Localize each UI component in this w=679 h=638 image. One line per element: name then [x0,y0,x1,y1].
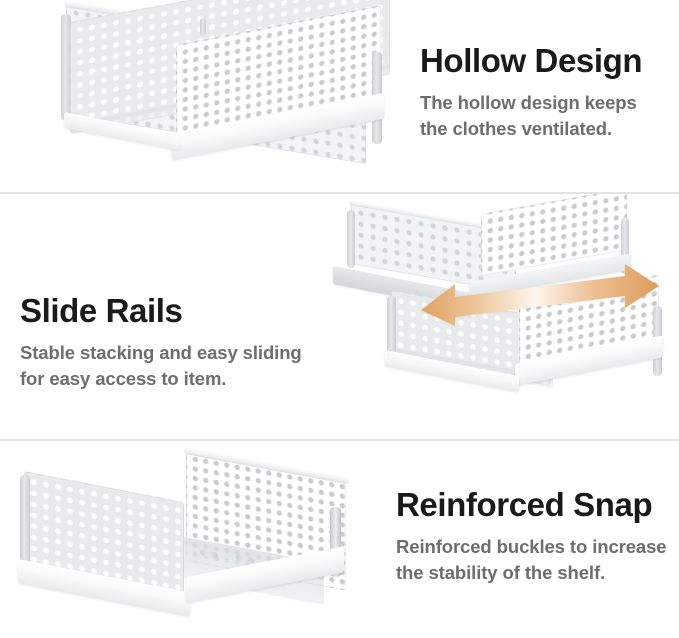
slide-direction-arrow [421,264,659,326]
feature-section-slide-rails: Slide Rails Stable stacking and easy sli… [0,194,679,440]
feature-text-slide-rails: Slide Rails Stable stacking and easy sli… [20,294,340,392]
feature-section-hollow-design: Hollow Design The hollow design keeps th… [0,0,679,193]
feature-body-line: Reinforced buckles to increase [396,534,667,560]
feature-body-line: Stable stacking and easy sliding [20,340,340,366]
feature-body: Reinforced buckles to increase the stabi… [396,534,667,587]
basket-illustration [0,441,386,638]
product-image-slide-rails [329,194,679,440]
feature-heading: Hollow Design [420,44,642,79]
feature-heading: Slide Rails [20,294,340,329]
feature-body: The hollow design keeps the clothes vent… [420,90,642,143]
basket-illustration [0,0,400,193]
product-image-hollow-design [0,0,400,193]
feature-section-reinforced-snap: Reinforced Snap Reinforced buckles to in… [0,441,679,638]
feature-text-hollow-design: Hollow Design The hollow design keeps th… [420,44,642,142]
basket-snap-tab [200,18,206,36]
feature-body-line: The hollow design keeps [420,90,642,116]
feature-body-line: for easy access to item. [20,366,340,392]
feature-text-reinforced-snap: Reinforced Snap Reinforced buckles to in… [396,488,667,586]
feature-body-line: the clothes ventilated. [420,116,642,142]
feature-body: Stable stacking and easy sliding for eas… [20,340,340,393]
product-feature-infographic: Hollow Design The hollow design keeps th… [0,0,679,638]
feature-body-line: the stability of the shelf. [396,560,667,586]
upper-basket-left-post [347,210,355,268]
product-image-reinforced-snap [0,441,386,638]
feature-heading: Reinforced Snap [396,488,667,523]
